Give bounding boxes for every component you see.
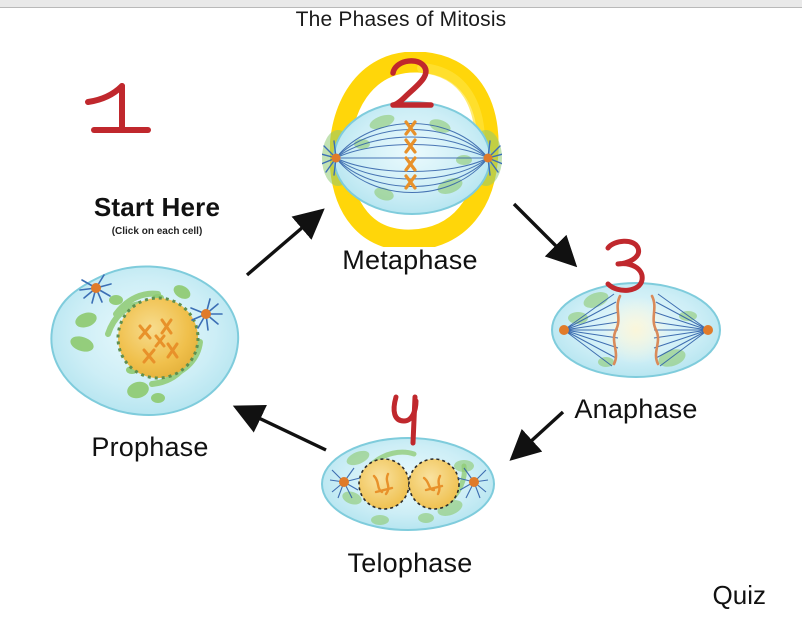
- label-telophase: Telophase: [320, 548, 500, 579]
- quiz-link[interactable]: Quiz: [713, 580, 766, 611]
- start-here-title: Start Here: [42, 192, 272, 223]
- start-here-block: Start Here (Click on each cell): [42, 192, 272, 237]
- cell-metaphase[interactable]: [322, 98, 502, 218]
- slide-canvas: The Phases of Mitosis: [0, 0, 802, 621]
- arrow-telophase-to-prophase: [228, 400, 334, 463]
- window-chrome-strip: [0, 0, 802, 8]
- page-title: The Phases of Mitosis: [0, 8, 802, 32]
- arrow-anaphase-to-telophase: [505, 406, 577, 473]
- marker-number-2: [385, 57, 439, 113]
- label-metaphase: Metaphase: [300, 245, 520, 276]
- cell-telophase[interactable]: [318, 432, 498, 536]
- cell-prophase[interactable]: [40, 258, 255, 418]
- arrow-metaphase-to-anaphase: [508, 196, 588, 279]
- marker-number-3: [600, 238, 650, 294]
- start-here-hint: (Click on each cell): [42, 226, 272, 237]
- marker-number-4: [388, 393, 434, 447]
- marker-number-1: [80, 78, 160, 144]
